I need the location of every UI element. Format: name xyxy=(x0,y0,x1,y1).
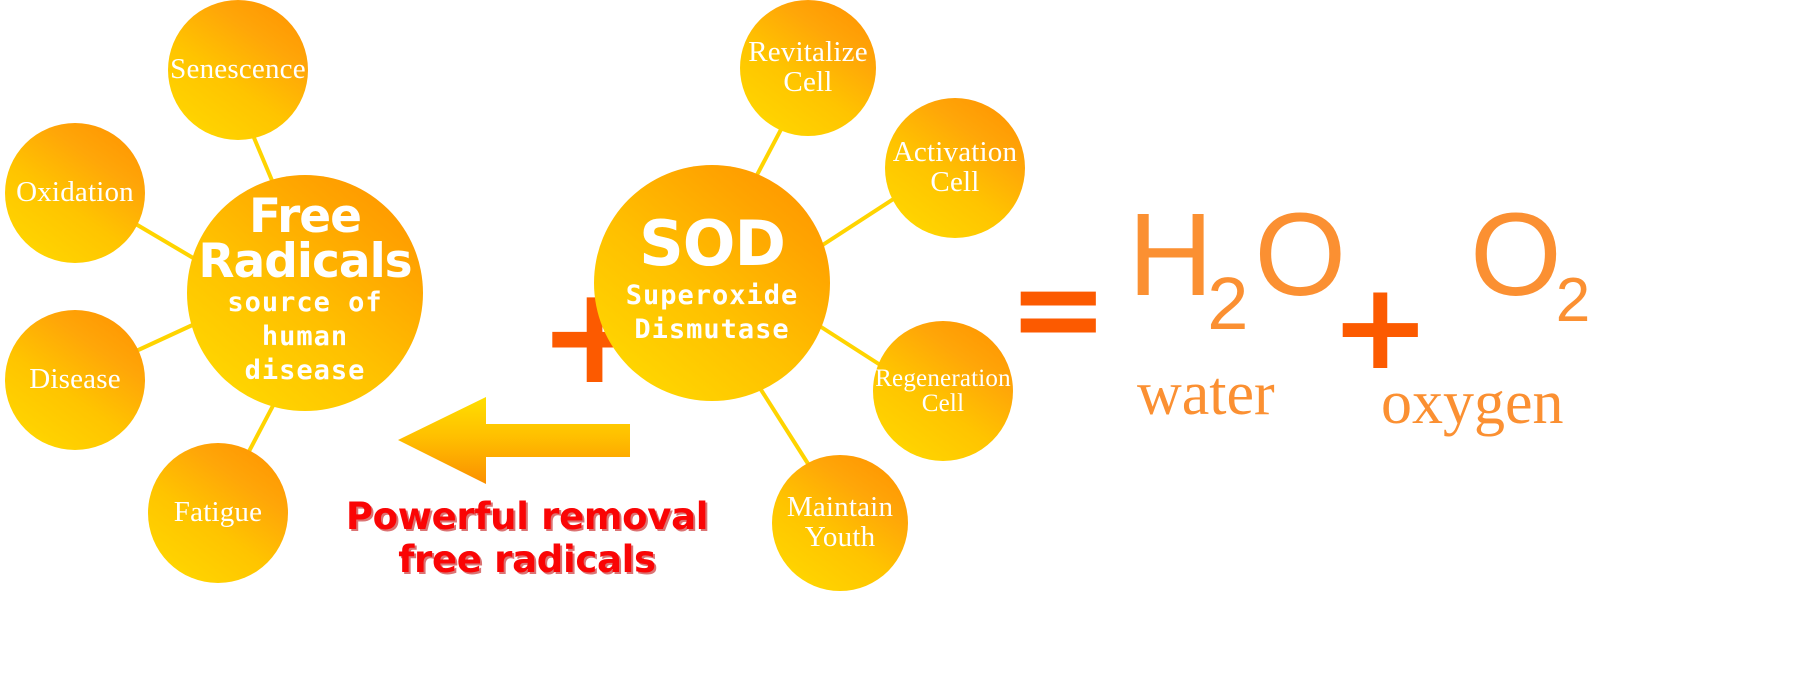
hub-sub-line2: Dismutase xyxy=(626,313,799,347)
callout-line2: free radicals xyxy=(332,538,722,581)
callout-powerful-removal: Powerful removal free radicals xyxy=(332,495,722,582)
hub-sub-line2: human xyxy=(227,320,382,354)
bubble-revitalize-cell[interactable]: Revitalize Cell xyxy=(740,0,876,136)
formula-o2-subscript: 2 xyxy=(1556,266,1590,335)
bubble-label-line1: Regeneration xyxy=(875,366,1011,392)
link-activation-cell xyxy=(818,196,898,248)
formula-h: H xyxy=(1128,189,1213,321)
bubble-label: Fatigue xyxy=(174,498,262,528)
bubble-label-line1: Revitalize xyxy=(748,38,868,68)
hub-sub-line1: source of xyxy=(227,286,382,320)
bubble-label-line1: Maintain xyxy=(787,493,893,523)
formula-oxygen: O2 xyxy=(1470,196,1596,314)
formula-o2: O xyxy=(1470,189,1562,321)
hub-subtitle: Superoxide Dismutase xyxy=(626,279,799,347)
bubble-label-line1: Activation xyxy=(893,138,1017,168)
hub-title-line2: Radicals xyxy=(198,234,411,289)
caption-water: water xyxy=(1137,363,1275,425)
diagram-canvas: Senescence Oxidation Disease Fatigue Fre… xyxy=(0,0,1800,700)
bubble-oxidation[interactable]: Oxidation xyxy=(5,123,145,263)
hub-free-radicals[interactable]: Free Radicals source of human disease xyxy=(187,175,423,411)
bubble-disease[interactable]: Disease xyxy=(5,310,145,450)
link-regeneration-cell xyxy=(818,325,885,368)
bubble-activation-cell[interactable]: Activation Cell xyxy=(885,98,1025,238)
equals-operator: = xyxy=(1008,250,1109,370)
caption-oxygen: oxygen xyxy=(1381,372,1564,434)
bubble-label-line2: Cell xyxy=(783,68,832,98)
link-fatigue xyxy=(246,400,276,457)
bubble-label: Senescence xyxy=(170,55,306,85)
link-disease xyxy=(134,322,199,352)
hub-sod[interactable]: SOD Superoxide Dismutase xyxy=(594,165,830,401)
bubble-label-line2: Cell xyxy=(922,391,964,417)
bubble-maintain-youth[interactable]: Maintain Youth xyxy=(772,455,908,591)
callout-line1: Powerful removal xyxy=(332,495,722,538)
formula-water: H2O xyxy=(1128,196,1346,314)
bubble-senescence[interactable]: Senescence xyxy=(168,0,308,140)
bubble-label-line2: Youth xyxy=(805,523,876,553)
formula-h-subscript: 2 xyxy=(1207,262,1248,345)
bubble-regeneration-cell[interactable]: Regeneration Cell xyxy=(873,321,1013,461)
hub-title: Free Radicals xyxy=(187,194,423,284)
bubble-label: Oxidation xyxy=(16,178,134,208)
bubble-label-line2: Cell xyxy=(930,168,979,198)
bubble-label: Disease xyxy=(29,365,121,395)
hub-title: SOD xyxy=(639,213,785,275)
link-maintain-youth xyxy=(758,385,812,470)
hub-sub-line1: Superoxide xyxy=(626,279,799,313)
hub-subtitle: source of human disease xyxy=(227,286,382,387)
hub-sub-line3: disease xyxy=(227,354,382,388)
bubble-fatigue[interactable]: Fatigue xyxy=(148,443,288,583)
